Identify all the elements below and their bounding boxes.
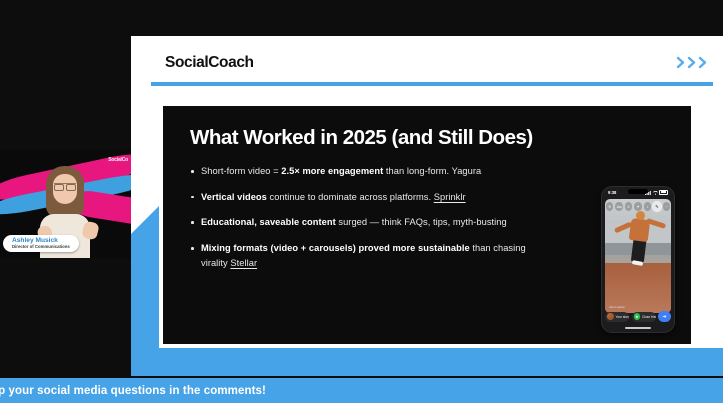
status-indicators (645, 190, 668, 196)
draw-tool-icon[interactable]: ✎ (653, 202, 660, 211)
status-time: 9:38 (608, 190, 616, 195)
presenter-camera-overlay: SocialCo Ashley Musick Director of Commu… (0, 150, 131, 258)
story-action-bar[interactable]: Your story ★ Close friends ➔ (605, 311, 671, 322)
list-item: Mixing formats (video + carousels) prove… (190, 241, 550, 270)
brand-wordmark: SocialCoach (165, 54, 254, 72)
bullet-text-2: Educational, saveable content surged — t… (201, 217, 507, 227)
text-tool-icon[interactable]: Aa (615, 202, 622, 211)
star-badge-icon: ★ (634, 313, 641, 320)
slide-title: What Worked in 2025 (and Still Does) (190, 126, 533, 150)
screen-root: SocialCoach What Worked in 2025 (and Sti… (0, 0, 723, 403)
glasses-icon (54, 183, 76, 189)
avatar (607, 313, 614, 320)
more-tool-icon[interactable]: ⋯ (663, 202, 670, 211)
music-tool-icon[interactable]: ♪ (644, 202, 651, 211)
bullet-text-1: Vertical videos continue to dominate acr… (201, 192, 466, 202)
bottom-ticker-bar: Drop your social media questions in the … (0, 378, 723, 403)
citation-link[interactable]: Stellar (230, 258, 257, 268)
close-icon[interactable]: ✕ (606, 202, 613, 211)
header-rule (151, 82, 713, 86)
story-photo: Add a caption (605, 199, 671, 313)
close-friends-label: Close friends (642, 315, 656, 319)
presenter-name-badge: Ashley Musick Director of Communications (3, 235, 79, 252)
phone-mockup: 9:38 Add a (601, 186, 675, 333)
camera-watermark: SocialCo (108, 157, 128, 163)
battery-icon (659, 190, 668, 196)
bullet-text-3: Mixing formats (video + carousels) prove… (201, 243, 526, 268)
citation-link[interactable]: Sprinklr (434, 192, 466, 202)
bullet-list: Short-form video = 2.5× more engagement … (190, 164, 550, 281)
list-item: Short-form video = 2.5× more engagement … (190, 164, 550, 179)
phone-status-bar: 9:38 (602, 187, 674, 198)
sticker-tool-icon[interactable]: ☺ (625, 202, 632, 211)
ticker-track: Drop your social media questions in the … (0, 378, 723, 403)
presentation-slide: SocialCoach What Worked in 2025 (and Sti… (131, 36, 723, 376)
ticker-message: Drop your social media questions in the … (0, 385, 266, 397)
subject-jacket (629, 218, 651, 242)
subject-head (636, 211, 645, 220)
list-item: Educational, saveable content surged — t… (190, 215, 550, 230)
your-story-label: Your story (616, 315, 630, 319)
home-indicator (625, 327, 651, 329)
citation-link[interactable]: Yagura (452, 166, 482, 176)
presenter-role: Director of Communications (12, 244, 70, 249)
send-arrow-icon[interactable]: ➔ (658, 311, 671, 322)
photo-caption: Add a caption (609, 306, 625, 309)
story-tool-row[interactable]: ✕ Aa ☺ ✦ ♪ ✎ ⋯ (606, 202, 670, 211)
presenter-name: Ashley Musick (12, 237, 70, 245)
cellular-bars-icon (645, 191, 651, 195)
effects-tool-icon[interactable]: ✦ (634, 202, 641, 211)
your-story-button[interactable]: Your story (605, 312, 629, 322)
wifi-icon (653, 191, 658, 195)
bullet-text-0: Short-form video = 2.5× more engagement … (201, 166, 481, 176)
list-item: Vertical videos continue to dominate acr… (190, 190, 550, 205)
presenter-hand-right (81, 220, 100, 240)
close-friends-button[interactable]: ★ Close friends (632, 312, 656, 322)
content-card: What Worked in 2025 (and Still Does) Sho… (163, 106, 691, 344)
triple-chevron-right-icon[interactable] (676, 56, 709, 69)
